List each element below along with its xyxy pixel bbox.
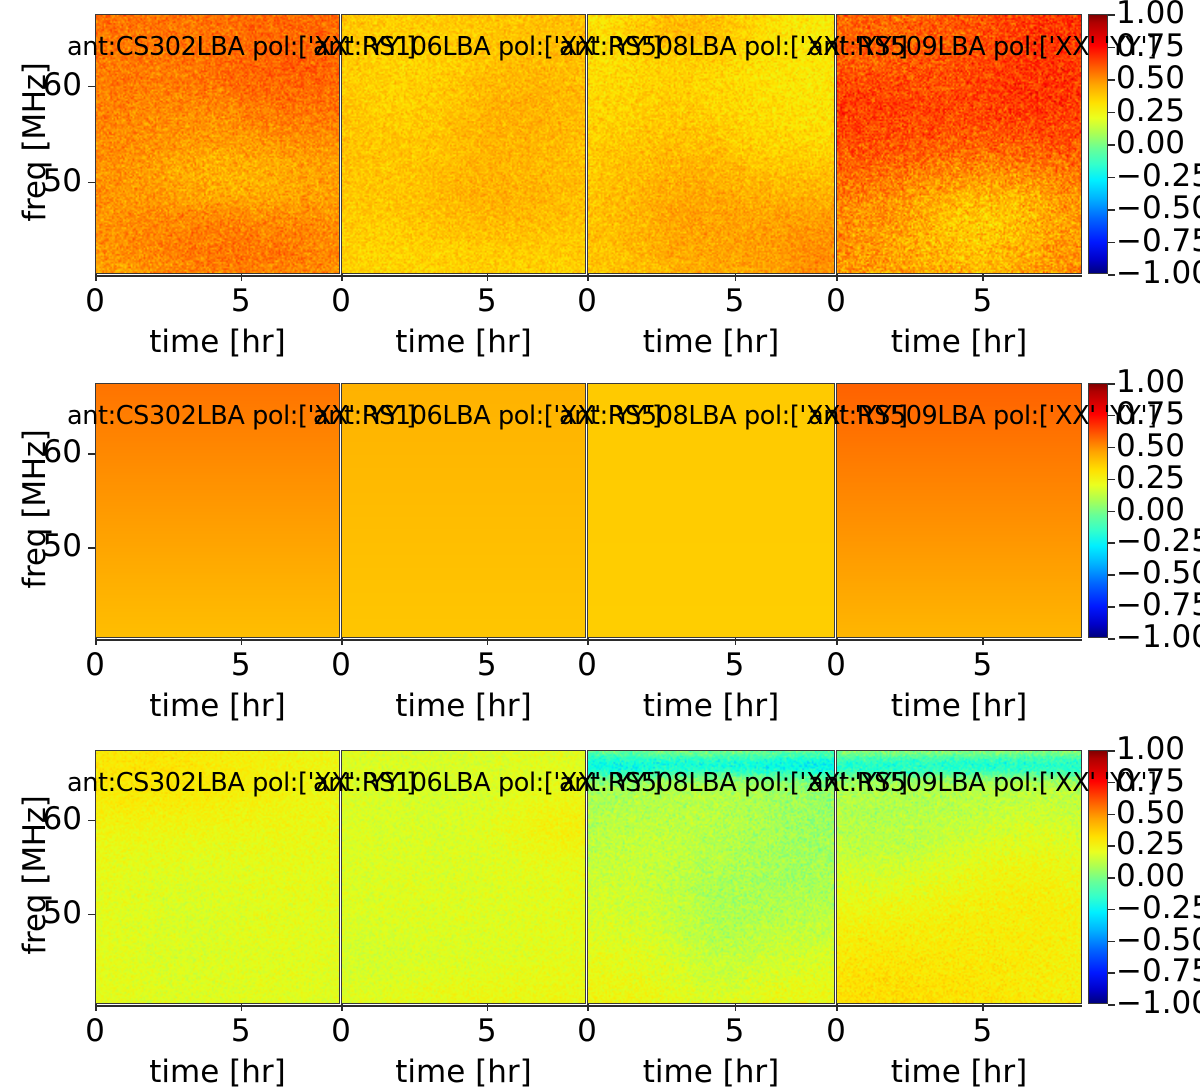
x-tick-label: 5 — [221, 1016, 261, 1047]
panel-title: ant:RS509LBA pol:['XX' 'YY'] — [808, 401, 1110, 431]
plot-row-3: freq [MHz]6050ant:CS302LBA pol:['XX' 'YY… — [0, 750, 1200, 1004]
y-tick-mark — [88, 547, 95, 549]
x-tick-label: 5 — [715, 1016, 755, 1047]
colorbar-tick-mark — [1108, 877, 1115, 879]
x-axis-spine — [95, 1005, 1082, 1007]
colorbar-tick-label: −0.25 — [1116, 526, 1200, 557]
colorbar-tick-mark — [1108, 909, 1115, 911]
colorbar-tick-label: 0.25 — [1116, 96, 1185, 127]
y-tick-label: 60 — [10, 804, 82, 835]
y-tick-label: 60 — [10, 70, 82, 101]
colorbar-tick-mark — [1108, 845, 1115, 847]
colorbar-tick-mark — [1108, 274, 1115, 276]
colorbar-tick-label: 1.00 — [1116, 367, 1185, 398]
y-tick-mark — [88, 820, 95, 822]
y-tick-label: 60 — [10, 437, 82, 468]
x-tick-label: 5 — [467, 286, 507, 317]
x-tick-label: 5 — [962, 1016, 1002, 1047]
x-axis-label: time [hr] — [331, 324, 596, 360]
colorbar-tick-mark — [1108, 606, 1115, 608]
y-tick-mark — [88, 182, 95, 184]
colorbar-tick-label: −0.25 — [1116, 161, 1200, 192]
x-tick-label: 0 — [816, 1016, 856, 1047]
x-tick-label: 5 — [962, 286, 1002, 317]
x-axis-label: time [hr] — [85, 688, 350, 724]
y-tick-mark — [88, 914, 95, 916]
x-axis-label: time [hr] — [331, 1054, 596, 1090]
colorbar-tick-label: −0.75 — [1116, 226, 1200, 257]
colorbar-tick-label: 0.00 — [1116, 128, 1185, 159]
colorbar-tick-label: −0.50 — [1116, 925, 1200, 956]
colorbar-tick-mark — [1108, 1004, 1115, 1006]
panel-title: ant:RS509LBA pol:['XX' 'YY'] — [808, 768, 1110, 798]
colorbar-tick-mark — [1108, 814, 1115, 816]
y-axis-label: freq [MHz] — [17, 11, 53, 273]
x-tick-label: 0 — [75, 1016, 115, 1047]
colorbar-tick-mark — [1108, 941, 1115, 943]
colorbar-tick-mark — [1108, 79, 1115, 81]
x-axis-label: time [hr] — [826, 324, 1092, 360]
colorbar-tick-label: −0.75 — [1116, 956, 1200, 987]
y-tick-label: 50 — [10, 531, 82, 562]
colorbar-tick-label: −0.50 — [1116, 558, 1200, 589]
plot-row-2: freq [MHz]6050ant:CS302LBA pol:['XX' 'YY… — [0, 383, 1200, 638]
x-axis-label: time [hr] — [577, 324, 845, 360]
colorbar-tick-mark — [1108, 144, 1115, 146]
colorbar-tick-label: 0.25 — [1116, 463, 1185, 494]
x-tick-label: 5 — [715, 650, 755, 681]
x-tick-label: 0 — [567, 286, 607, 317]
colorbar-tick-mark — [1108, 972, 1115, 974]
colorbar-tick-label: 0.00 — [1116, 495, 1185, 526]
colorbar-tick-label: 0.50 — [1116, 798, 1185, 829]
x-axis-label: time [hr] — [826, 1054, 1092, 1090]
x-axis-spine — [95, 639, 1082, 641]
colorbar-tick-label: −1.00 — [1116, 622, 1200, 653]
x-tick-label: 5 — [467, 1016, 507, 1047]
colorbar-tick-label: −1.00 — [1116, 258, 1200, 289]
y-axis-label: freq [MHz] — [17, 744, 53, 1006]
y-axis-label: freq [MHz] — [17, 378, 53, 640]
colorbar-tick-mark — [1108, 750, 1115, 752]
x-tick-label: 0 — [321, 286, 361, 317]
colorbar-tick-label: 0.00 — [1116, 861, 1185, 892]
x-tick-label: 0 — [567, 1016, 607, 1047]
colorbar-tick-mark — [1108, 447, 1115, 449]
colorbar-tick-mark — [1108, 638, 1115, 640]
x-tick-label: 0 — [816, 286, 856, 317]
x-axis-label: time [hr] — [826, 688, 1092, 724]
colorbar-tick-mark — [1108, 383, 1115, 385]
colorbar-tick-label: −0.25 — [1116, 893, 1200, 924]
x-tick-label: 0 — [75, 286, 115, 317]
plot-row-1: freq [MHz]6050ant:CS302LBA pol:['XX' 'YY… — [0, 14, 1200, 274]
x-tick-label: 5 — [221, 286, 261, 317]
colorbar-tick-mark — [1108, 112, 1115, 114]
x-tick-label: 0 — [75, 650, 115, 681]
x-axis-label: time [hr] — [577, 688, 845, 724]
x-tick-label: 5 — [221, 650, 261, 681]
x-axis-label: time [hr] — [577, 1054, 845, 1090]
colorbar-tick-label: 1.00 — [1116, 0, 1185, 29]
x-tick-label: 5 — [467, 650, 507, 681]
x-tick-label: 0 — [321, 650, 361, 681]
colorbar-tick-label: 0.25 — [1116, 829, 1185, 860]
x-axis-spine — [95, 275, 1082, 277]
y-tick-label: 50 — [10, 166, 82, 197]
x-axis-label: time [hr] — [85, 1054, 350, 1090]
x-tick-label: 0 — [567, 650, 607, 681]
colorbar-tick-mark — [1108, 242, 1115, 244]
y-tick-mark — [88, 453, 95, 455]
colorbar-tick-mark — [1108, 542, 1115, 544]
colorbar-tick-mark — [1108, 14, 1115, 16]
colorbar-tick-label: −0.75 — [1116, 590, 1200, 621]
colorbar-tick-label: 1.00 — [1116, 734, 1185, 765]
colorbar-tick-label: 0.50 — [1116, 431, 1185, 462]
x-tick-label: 0 — [816, 650, 856, 681]
x-axis-label: time [hr] — [331, 688, 596, 724]
y-tick-mark — [88, 86, 95, 88]
colorbar-tick-mark — [1108, 574, 1115, 576]
x-tick-label: 5 — [962, 650, 1002, 681]
colorbar-tick-label: 0.50 — [1116, 63, 1185, 94]
panel-title: ant:RS509LBA pol:['XX' 'YY'] — [808, 32, 1110, 62]
x-tick-label: 5 — [715, 286, 755, 317]
x-tick-label: 0 — [321, 1016, 361, 1047]
colorbar-tick-label: −1.00 — [1116, 988, 1200, 1019]
colorbar-tick-mark — [1108, 177, 1115, 179]
y-tick-label: 50 — [10, 898, 82, 929]
colorbar-tick-mark — [1108, 479, 1115, 481]
colorbar-tick-mark — [1108, 511, 1115, 513]
colorbar-tick-mark — [1108, 209, 1115, 211]
colorbar-tick-label: −0.50 — [1116, 193, 1200, 224]
figure-canvas: freq [MHz]6050ant:CS302LBA pol:['XX' 'YY… — [0, 0, 1200, 1083]
x-axis-label: time [hr] — [85, 324, 350, 360]
